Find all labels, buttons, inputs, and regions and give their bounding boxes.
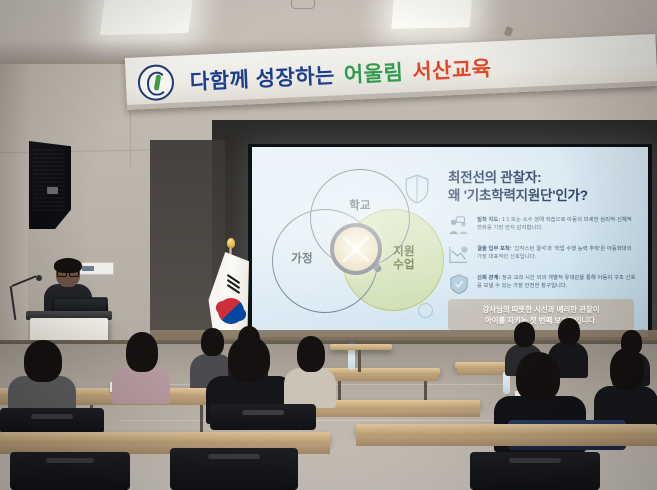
lecture-hall-photo: 다함께 성장하는 어울림 서산교육 학교 가정 지원수업 [0,0,657,490]
chair-back [170,448,298,490]
people-conversation-icon [448,216,470,236]
shield-icon [404,174,430,204]
bullet-lead: 밀착 지도: [477,217,500,223]
audience-member [112,332,170,398]
audience-member [8,340,76,412]
person-head [516,352,560,402]
bullet-lead: 결을 입무 포착: [477,246,512,252]
banner-segment-1: 다함께 성장하는 [189,60,335,97]
magnifier-lens [330,223,382,275]
chair-handle-slot [46,458,94,463]
slide-title-line1: 최전선의 관찰자: [448,169,638,187]
declining-graph-icon [448,245,470,265]
ceiling-light-left [100,0,194,35]
desk [320,368,440,375]
chair-handle-slot [208,454,259,459]
person-head [514,322,535,347]
slide-bullet-item: 신뢰 관계: 정규 교과 시간 외의 개별적 유대감을 통해 아동이 구조 신호… [448,274,638,294]
slide-title-line2: 왜 '기초학력지원단'인가? [448,187,638,205]
chair-back [210,404,316,430]
slide-text-column: 최전선의 관찰자: 왜 '기초학력지원단'인가? 밀착 지도: 1:1 또는 소… [448,169,638,294]
venn-label-home: 가정 [282,253,322,266]
floor-tile-line [120,420,540,421]
seosan-education-logo-icon [137,64,175,102]
desk-front-panel [356,436,657,446]
person-head [610,348,644,390]
chair-handle-slot [31,414,73,419]
banner-segment-3: 서산교육 [412,52,493,86]
banner-segment-2: 어울림 [343,56,404,89]
bullet-body: 1:1 또는 소수 정예 학습으로 아동의 미세한 심리적·신체적 변화를 가장… [477,217,632,231]
slide-bullet-text: 결을 입무 포착: '갑작스런 결석'과 '학업 수행 능력 추락'은 아동학대… [477,245,638,261]
chair-back [470,452,600,490]
ceiling-vent [291,0,315,9]
speaker-grille [33,149,65,211]
desk-front-panel [300,409,480,417]
ceiling-fixture-mark [504,26,514,37]
slide-bullet-item: 밀착 지도: 1:1 또는 소수 정예 학습으로 아동의 미세한 심리적·신체적… [448,216,638,236]
taeguk-symbol [214,294,248,328]
shield-trust-icon [448,274,470,294]
presentation-slide: 학교 가정 지원수업 최전선의 관찰자: 왜 '기초학력지원단'인가? [252,147,648,337]
slide-bullet-list: 밀착 지도: 1:1 또는 소수 정예 학습으로 아동의 미세한 심리적·신체적… [448,216,638,294]
slide-bullet-item: 결을 입무 포착: '갑작스런 결석'과 '학업 수행 능력 추락'은 아동학대… [448,245,638,265]
magnifying-glass-icon [330,223,378,271]
desk [356,424,657,436]
audience-member [594,348,657,426]
magnifier-sparkle [343,236,369,262]
person-head [24,340,62,382]
person-head [297,336,325,372]
person-head [558,318,580,345]
slide-title: 최전선의 관찰자: 왜 '기초학력지원단'인가? [448,169,638,205]
presenter-glasses [57,270,79,275]
chair-handle-slot [509,458,561,463]
chair-back [0,408,104,434]
desk [0,432,330,444]
person-head [126,332,158,372]
chair-back [10,452,130,490]
ceiling-light-right [391,0,472,29]
wall-pa-speaker [29,141,71,229]
bullet-lead: 신뢰 관계: [477,275,500,281]
audience-member [284,336,336,402]
slide-bullet-text: 신뢰 관계: 정규 교과 시간 외의 개별적 유대감을 통해 아동이 구조 신호… [477,274,638,290]
water-bottle [348,348,355,370]
desk-leg [358,350,361,372]
slide-watermark [418,303,433,318]
desk [330,344,392,350]
bullet-body: 정규 교과 시간 외의 개별적 유대감을 통해 아동이 구조 신호를 보낼 수 … [477,275,635,289]
venn-label-school: 학교 [338,200,382,213]
microphone-head [36,275,42,281]
speaker-brand-badge [47,187,58,194]
venn-label-support: 지원수업 [384,246,424,272]
person-body [284,368,336,408]
slide-bullet-text: 밀착 지도: 1:1 또는 소수 정예 학습으로 아동의 미세한 심리적·신체적… [477,216,638,232]
person-head [228,336,270,382]
chair-handle-slot [242,410,284,415]
callout-line-1: 강사님의 따뜻한 시선과 예리한 관찰이 [454,304,628,315]
